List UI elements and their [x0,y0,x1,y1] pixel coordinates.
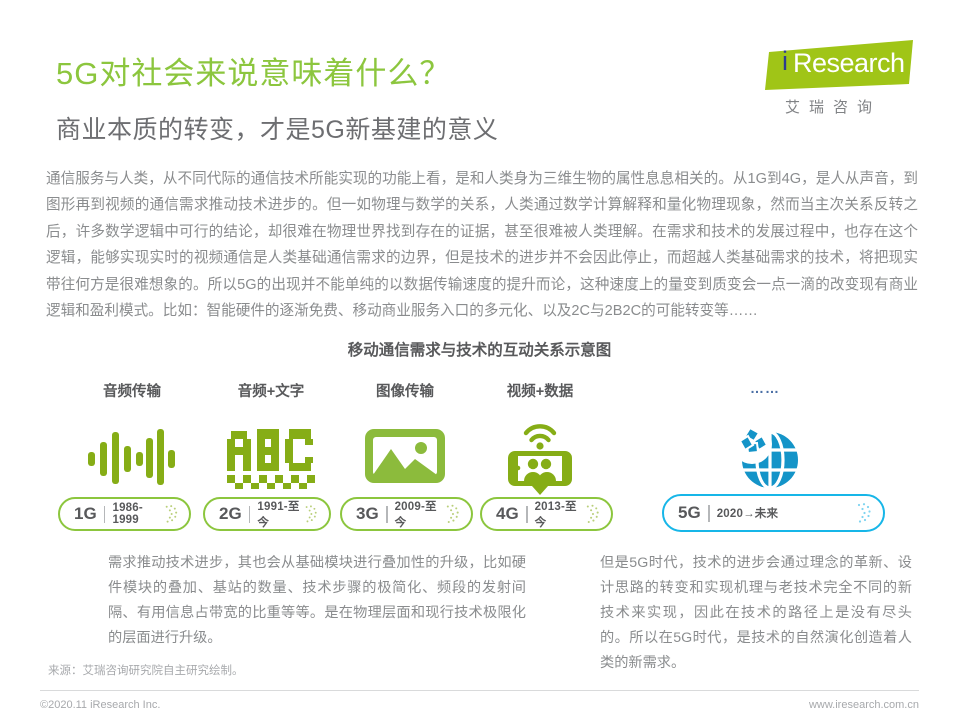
logo-chinese-name: 艾瑞咨询 [785,96,881,117]
badge-years-5g: 2020→未来 [717,505,778,521]
slide-page: 5G对社会来说意味着什么？ 商业本质的转变，才是5G新基建的意义 i Resea… [0,0,959,719]
badge-separator [526,506,528,523]
badge-years-3g: 2009-至今 [395,498,445,530]
globe-recycle-icon [690,412,840,500]
source-note: 来源：艾瑞咨询研究院自主研究绘制。 [48,662,244,678]
column-label-4g: 视频+数据 [465,380,615,402]
diagram-title: 移动通信需求与技术的互动关系示意图 [0,338,959,360]
badge-years-4g: 2013-至今 [535,498,585,530]
diagram-column-4g: 视频+数据 [465,380,615,500]
body-paragraph: 通信服务与人类，从不同代际的通信技术所能实现的功能上看，是和人类身为三维生物的属… [46,166,918,324]
diagram-column-5g: …… [690,380,840,500]
logo-badge: i Research [763,40,915,90]
badge-1g[interactable]: 1G 1986-1999 [58,497,191,531]
badge-separator [249,506,251,523]
badge-gen-1g: 1G [74,504,97,524]
diagram-column-2g: 音频+文字 [196,380,346,500]
badge-separator [104,506,106,523]
badge-gen-3g: 3G [356,504,379,524]
video-call-icon [465,412,615,500]
badge-years-2g: 1991-至今 [257,498,304,530]
website-url[interactable]: www.iresearch.com.cn [809,699,919,711]
badge-years-1g: 1986-1999 [112,502,163,526]
column-label-3g: 图像传输 [330,380,480,402]
page-subtitle: 商业本质的转变，才是5G新基建的意义 [56,110,498,146]
badge-3g[interactable]: 3G 2009-至今 [340,497,473,531]
column-label-1g: 音频传输 [57,380,207,402]
badge-separator [386,506,388,523]
logo-wordmark: Research [793,48,905,79]
iresearch-logo: i Research 艾瑞咨询 [763,40,915,120]
column-label-5g: …… [690,380,840,402]
column-label-2g: 音频+文字 [196,380,346,402]
badge-gen-2g: 2G [219,504,242,524]
pixel-abc-icon [196,412,346,500]
note-left: 需求推动技术进步，其也会从基础模块进行叠加性的升级，比如硬件模块的叠加、基站的数… [108,551,526,651]
dotted-arc-icon [585,503,600,525]
note-right: 但是5G时代，技术的进步会通过理念的革新、设计思路的转变和实现机理与老技术完全不… [600,551,912,676]
audio-waveform-icon [57,412,207,500]
copyright-text: ©2020.11 iResearch Inc. [40,699,160,711]
badge-5g[interactable]: 5G 2020→未来 [662,494,885,532]
dotted-arc-icon [856,502,872,524]
footer-divider [40,690,919,691]
badge-2g[interactable]: 2G 1991-至今 [203,497,331,531]
page-title: 5G对社会来说意味着什么？ [56,48,451,93]
badge-gen-5g: 5G [678,503,701,523]
photo-image-icon [330,412,480,500]
dotted-arc-icon [445,503,460,525]
dotted-arc-icon [164,503,178,525]
badge-separator [708,505,710,522]
dotted-arc-icon [304,503,318,525]
diagram-column-3g: 图像传输 [330,380,480,500]
logo-letter-i: i [782,46,788,77]
badge-gen-4g: 4G [496,504,519,524]
badge-4g[interactable]: 4G 2013-至今 [480,497,613,531]
diagram-column-1g: 音频传输 [57,380,207,500]
